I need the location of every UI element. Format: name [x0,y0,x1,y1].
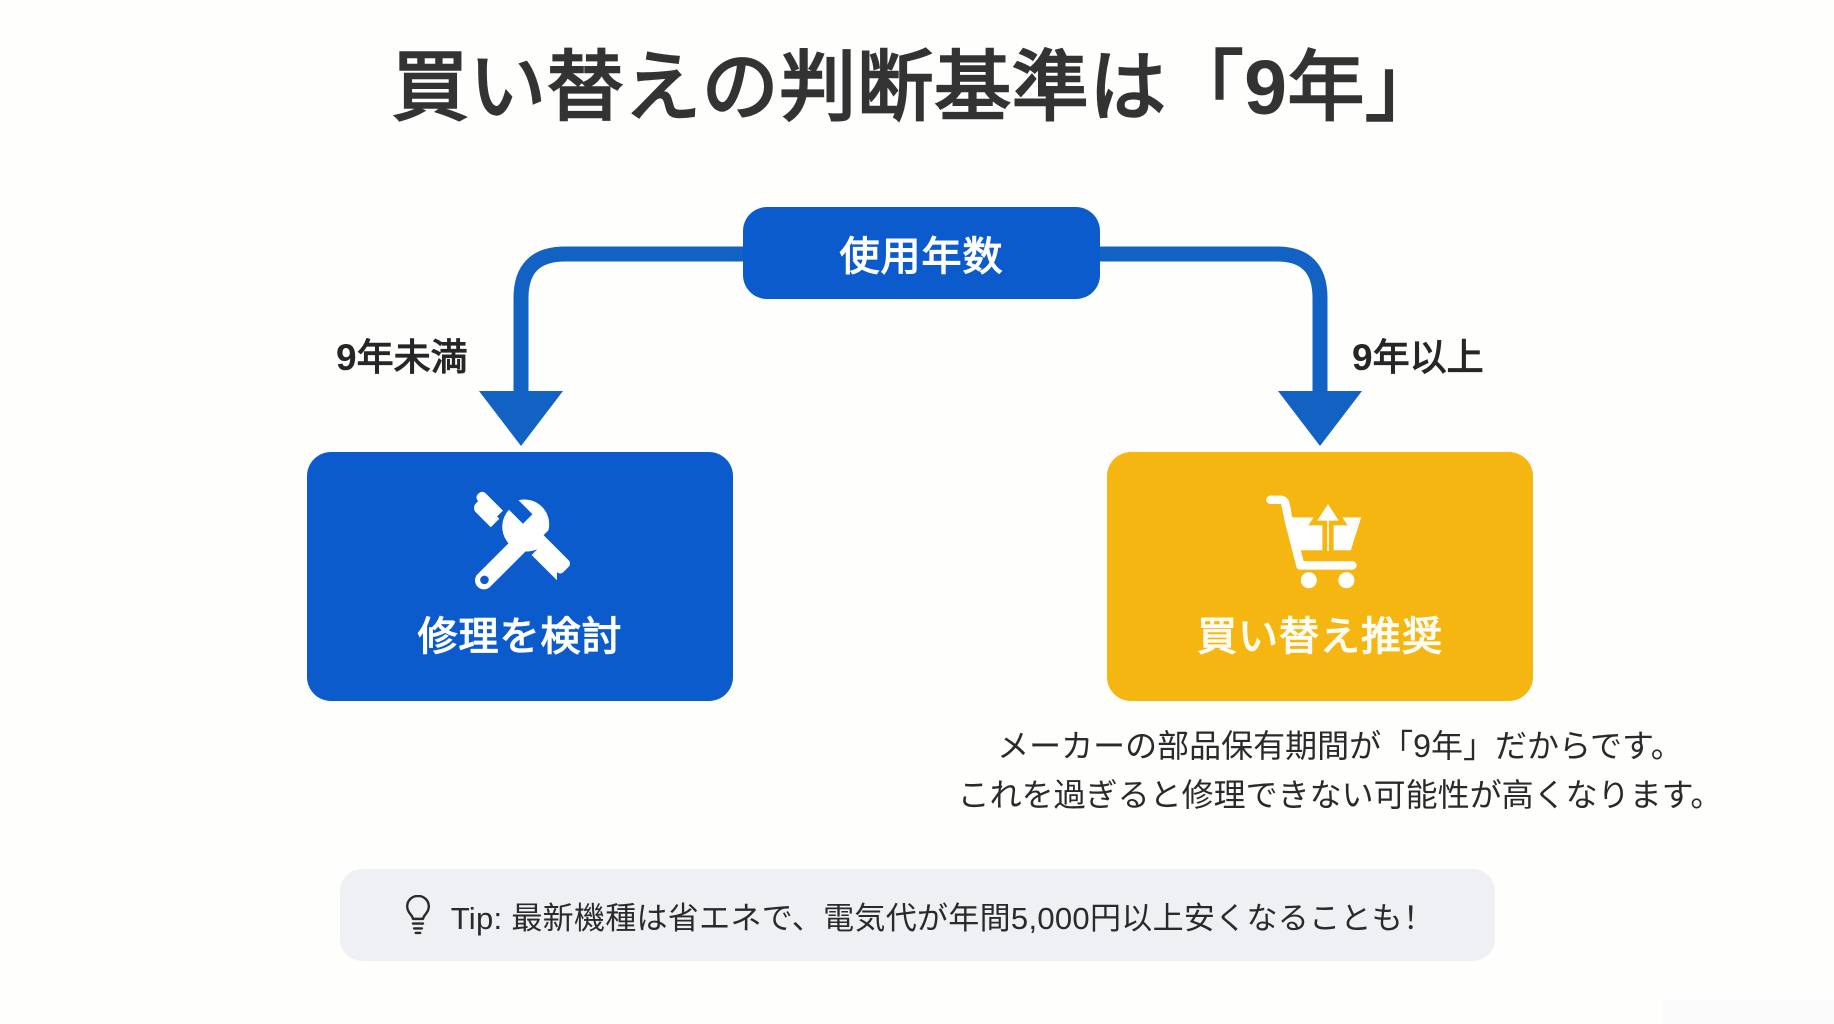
branch-label-right: 9年以上 [1352,327,1484,381]
description-text: メーカーの部品保有期間が「9年」だからです。 これを過ぎると修理できない可能性が… [920,722,1760,819]
page-title: 買い替えの判断基準は「9年」 [0,44,1834,133]
flow-root-node[interactable]: 使用年数 [743,207,1100,299]
tip-text: Tip: 最新機種は省エネで、電気代が年間5,000円以上安くなることも！ [451,893,1435,938]
description-line-2: これを過ぎると修理できない可能性が高くなります。 [920,771,1760,820]
lightbulb-icon [401,894,435,936]
tools-icon [466,488,574,598]
branch-label-left: 9年未満 [336,327,468,381]
description-line-1: メーカーの部品保有期間が「9年」だからです。 [920,722,1760,771]
flow-root-node-label: 使用年数 [840,224,1004,282]
outcome-card-replace-label: 買い替え推奨 [1197,604,1443,662]
shopping-cart-up-arrow-icon [1264,488,1376,598]
tip-bar: Tip: 最新機種は省エネで、電気代が年間5,000円以上安くなることも！ [340,869,1495,961]
outcome-card-repair-label: 修理を検討 [418,604,623,662]
outcome-card-replace[interactable]: 買い替え推奨 [1107,452,1533,701]
outcome-card-repair[interactable]: 修理を検討 [307,452,733,701]
corner-watermark-patch [1663,1000,1834,1024]
